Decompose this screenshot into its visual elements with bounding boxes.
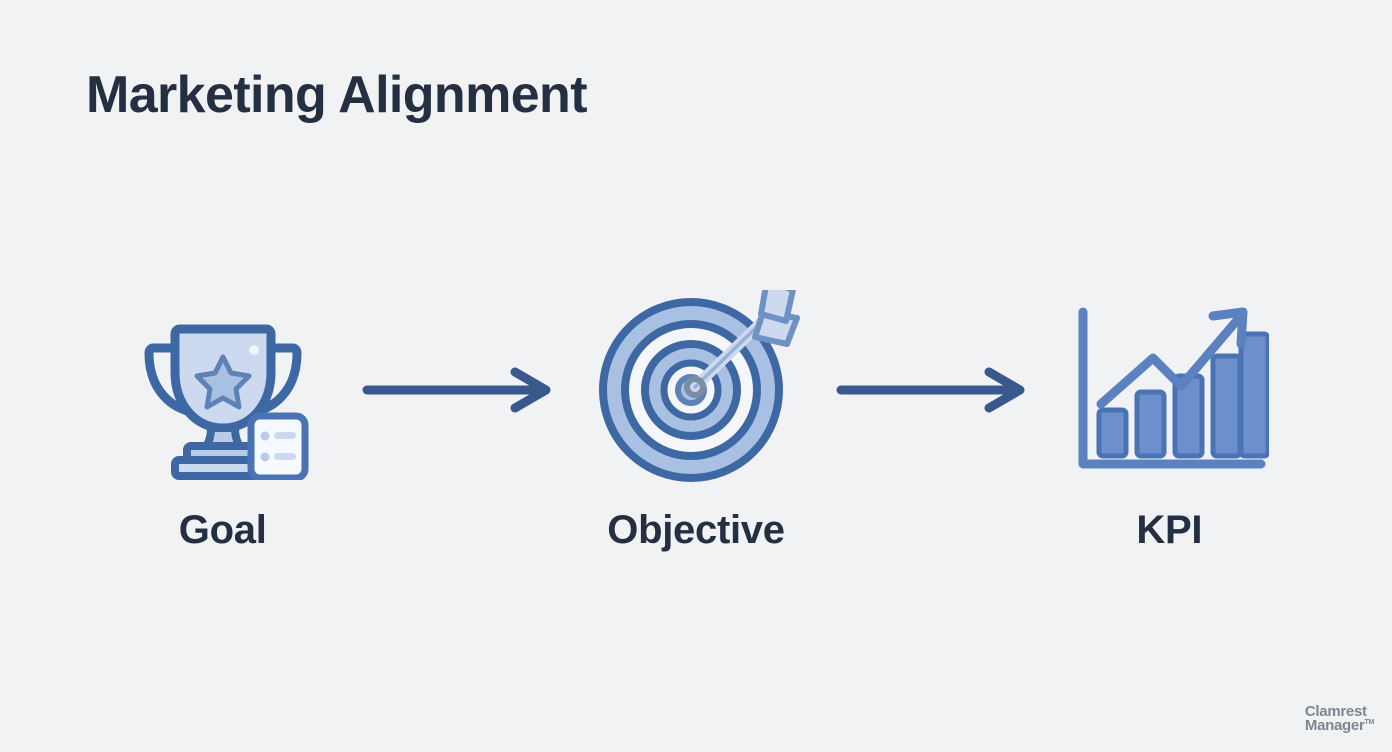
- alignment-flow-diagram: Goal: [86, 290, 1306, 590]
- arrow-right-icon: [835, 367, 1031, 413]
- target-bullseye-icon: [591, 290, 801, 490]
- brand-logo-line-2-text: Manager: [1305, 717, 1365, 734]
- target-icon-wrapper: [591, 290, 801, 490]
- slide-canvas: Marketing Alignment: [0, 0, 1392, 752]
- brand-logo-trademark: TM: [1364, 719, 1374, 726]
- trophy-icon: [123, 300, 323, 480]
- brand-logo: Clamrest ManagerTM: [1305, 705, 1374, 734]
- flow-stage-label-kpi: KPI: [1136, 508, 1202, 552]
- flow-connector-objective-to-kpi: [833, 290, 1033, 490]
- flow-connector-goal-to-objective: [359, 290, 559, 490]
- arrow-right-icon: [361, 367, 557, 413]
- brand-logo-line-2: ManagerTM: [1305, 719, 1374, 734]
- trophy-icon-wrapper: [123, 290, 323, 490]
- flow-stage-objective[interactable]: Objective: [559, 290, 832, 552]
- page-title: Marketing Alignment: [86, 66, 587, 124]
- bar-chart-growth-icon: [1069, 300, 1269, 480]
- flow-stage-kpi[interactable]: KPI: [1033, 290, 1306, 552]
- flow-stage-label-goal: Goal: [179, 508, 267, 552]
- flow-stage-label-objective: Objective: [607, 508, 784, 552]
- chart-icon-wrapper: [1069, 290, 1269, 490]
- flow-stage-goal[interactable]: Goal: [86, 290, 359, 552]
